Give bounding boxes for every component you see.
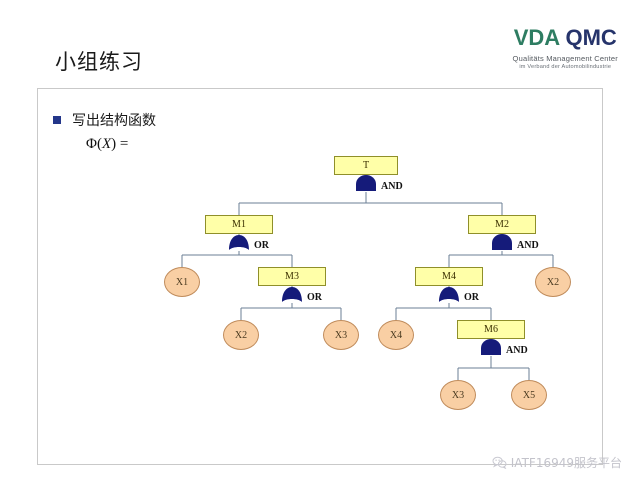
formula-prefix: Φ( (86, 136, 102, 152)
wechat-icon (492, 456, 507, 469)
bullet-item: 写出结构函数 (53, 110, 156, 130)
logo-qmc-text: QMC (565, 25, 616, 50)
formula-suffix: ) = (111, 136, 128, 152)
page-title: 小组练习 (55, 46, 143, 76)
logo-vda-text: VDA (514, 25, 560, 50)
bullet-square-icon (53, 116, 61, 124)
formula-variable: X (102, 136, 111, 152)
bullet-item-label: 写出结构函数 (72, 110, 156, 130)
structure-function-formula: Φ(X) = (86, 136, 128, 153)
vda-qmc-logo: VDA QMC Qualitäts Management Center im V… (513, 27, 618, 70)
logo-subtitle-line1: Qualitäts Management Center (513, 55, 618, 63)
watermark: IATF16949服务平台 (492, 454, 622, 471)
logo-subtitle-line2: im Verband der Automobilindustrie (513, 65, 618, 71)
watermark-label: IATF16949服务平台 (511, 454, 622, 471)
logo-wordmark: VDA QMC (513, 27, 618, 49)
